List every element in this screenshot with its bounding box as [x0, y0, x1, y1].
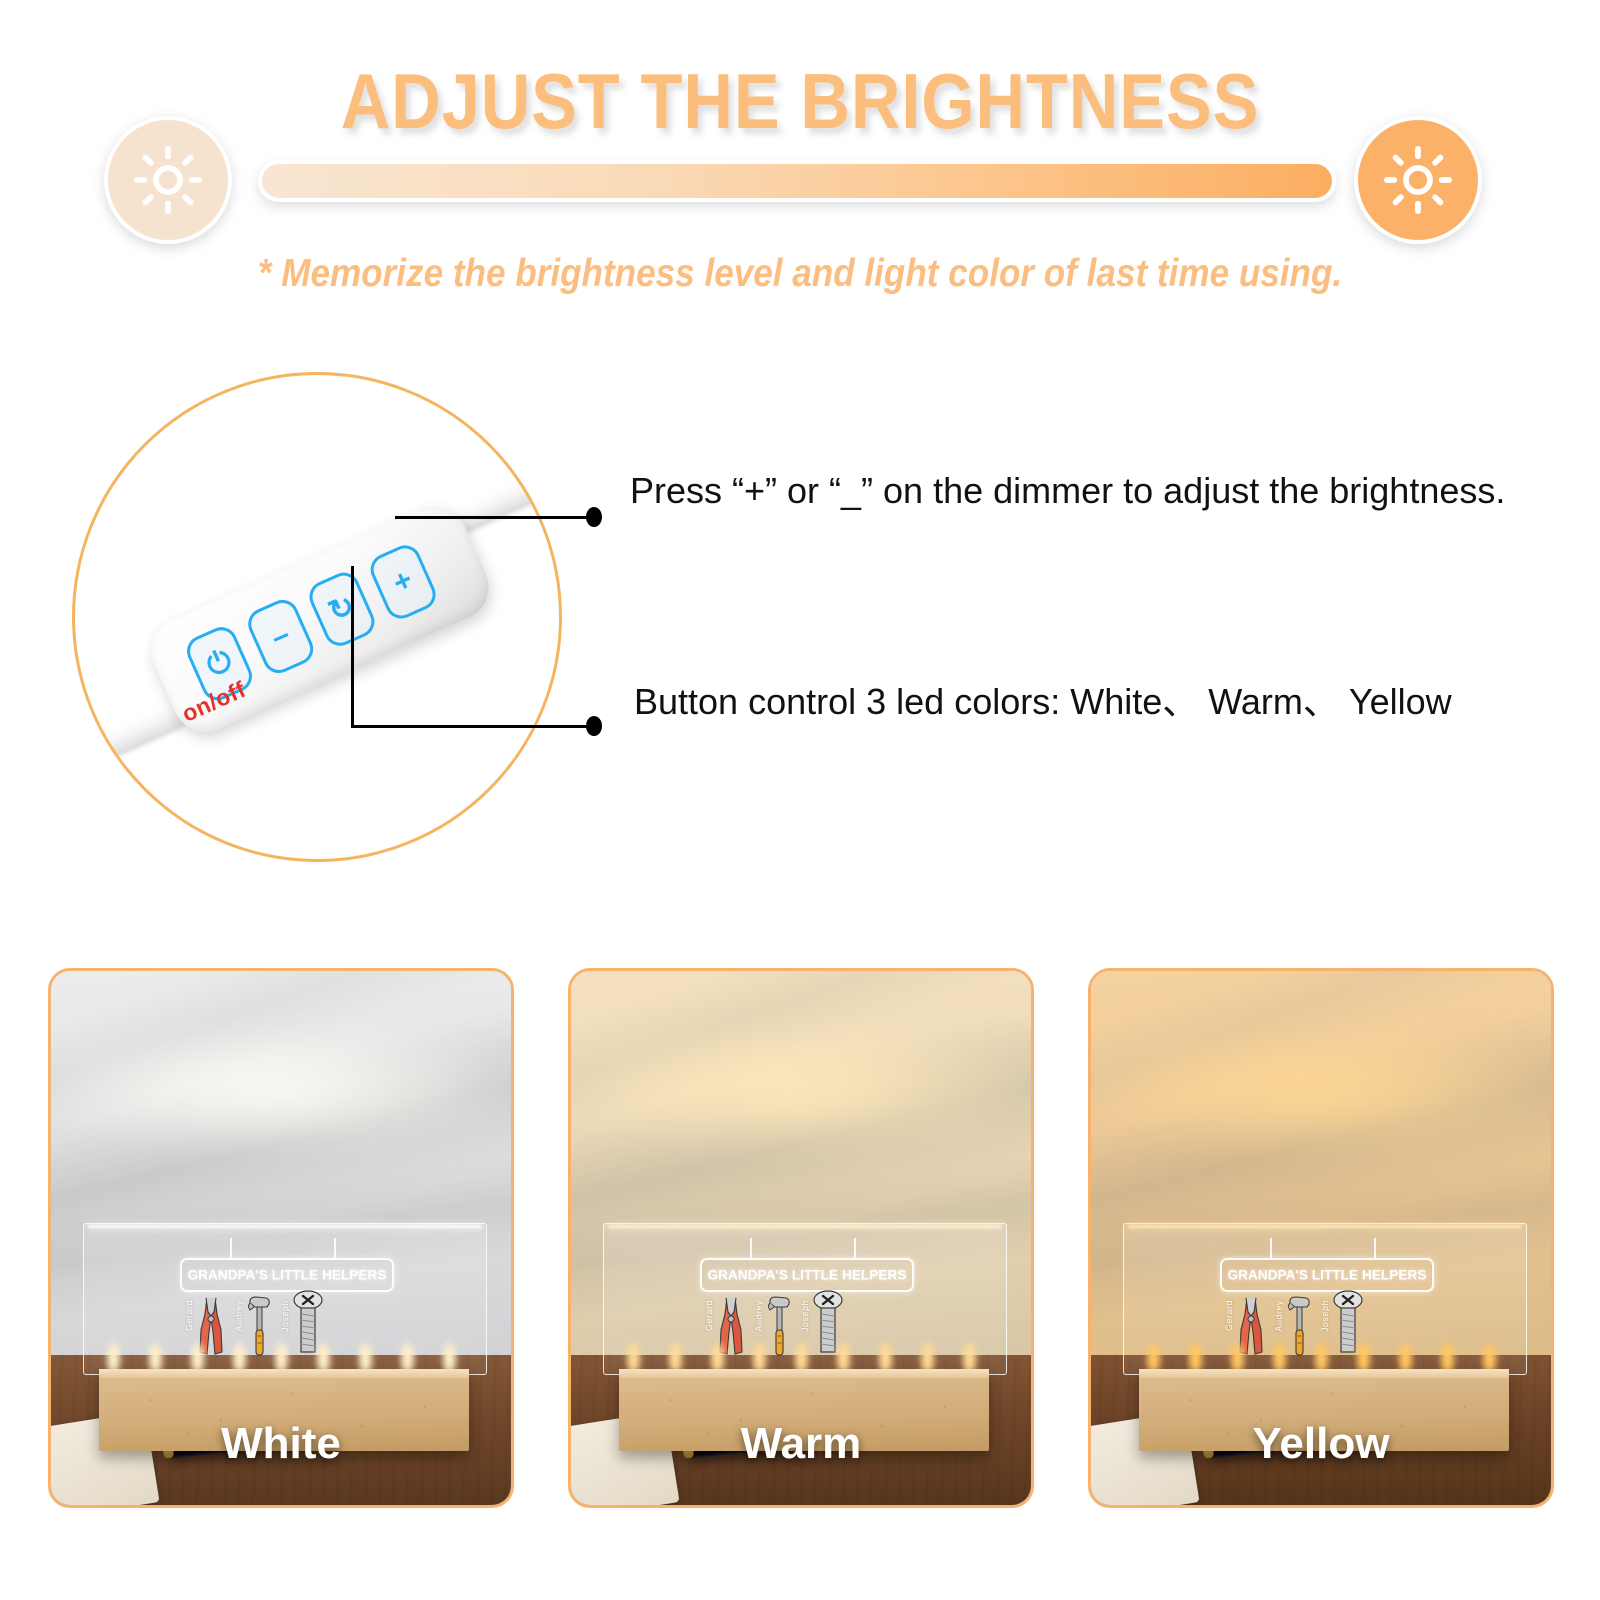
callout-led-colors: Button control 3 led colors: White、 Warm…	[634, 678, 1514, 726]
hanger-line	[334, 1238, 336, 1260]
tool-name: Audrey	[1274, 1300, 1284, 1332]
edge-glow	[608, 1225, 1002, 1228]
callout-dot-1	[586, 507, 602, 527]
hanger-line	[854, 1238, 856, 1260]
product-panels: GRANDPA'S LITTLE HELPERS Gerard	[0, 940, 1600, 1520]
tool-name: Audrey	[234, 1300, 244, 1332]
panel-white[interactable]: GRANDPA'S LITTLE HELPERS Gerard	[48, 968, 514, 1508]
panel-caption: Warm	[571, 1419, 1031, 1469]
light-glow	[48, 1025, 514, 1156]
panel-warm[interactable]: GRANDPA'S LITTLE HELPERS Gerard	[568, 968, 1034, 1508]
tool-name: Gerard	[1224, 1300, 1234, 1331]
callout-brightness: Press “+” or “_” on the dimmer to adjust…	[630, 467, 1510, 515]
plaque-text: GRANDPA'S LITTLE HELPERS	[1222, 1268, 1432, 1283]
dimmer-circle-frame	[72, 372, 562, 862]
page-title: ADJUST THE BRIGHTNESS	[96, 56, 1504, 147]
tool-name: Joseph	[1320, 1300, 1330, 1332]
infographic-page: ADJUST THE BRIGHTNESS * Memorize	[0, 0, 1600, 1600]
plaque-text: GRANDPA'S LITTLE HELPERS	[702, 1268, 912, 1283]
tool-name: Joseph	[800, 1300, 810, 1332]
callout-line-2-vert	[351, 566, 354, 728]
edge-glow	[88, 1225, 482, 1228]
brightness-slider[interactable]	[258, 160, 1336, 202]
hanger-line	[1374, 1238, 1376, 1260]
panel-caption: Yellow	[1091, 1419, 1551, 1469]
tool-name: Gerard	[704, 1300, 714, 1331]
hanger-line	[750, 1238, 752, 1260]
plaque-text: GRANDPA'S LITTLE HELPERS	[182, 1268, 392, 1283]
hanger-line	[1270, 1238, 1272, 1260]
callout-line-2-horz	[351, 725, 596, 728]
sun-low-brightness-icon	[104, 116, 232, 244]
memory-note: * Memorize the brightness level and ligh…	[80, 252, 1520, 296]
light-glow	[1088, 1025, 1554, 1156]
edge-glow	[1128, 1225, 1522, 1228]
plaque-banner: GRANDPA'S LITTLE HELPERS	[180, 1258, 394, 1292]
hanger-line	[230, 1238, 232, 1260]
tool-name: Joseph	[280, 1300, 290, 1332]
light-glow	[568, 1025, 1034, 1156]
led-strip	[621, 1339, 987, 1373]
sun-high-brightness-icon	[1354, 116, 1482, 244]
callout-dot-2	[586, 716, 602, 736]
tool-name: Audrey	[754, 1300, 764, 1332]
plaque-banner: GRANDPA'S LITTLE HELPERS	[1220, 1258, 1434, 1292]
tool-name: Gerard	[184, 1300, 194, 1331]
panel-caption: White	[51, 1419, 511, 1469]
plaque-banner: GRANDPA'S LITTLE HELPERS	[700, 1258, 914, 1292]
callout-line-1	[395, 516, 600, 519]
led-strip	[101, 1339, 467, 1373]
panel-yellow[interactable]: GRANDPA'S LITTLE HELPERS Gerard	[1088, 968, 1554, 1508]
led-strip	[1141, 1339, 1507, 1373]
